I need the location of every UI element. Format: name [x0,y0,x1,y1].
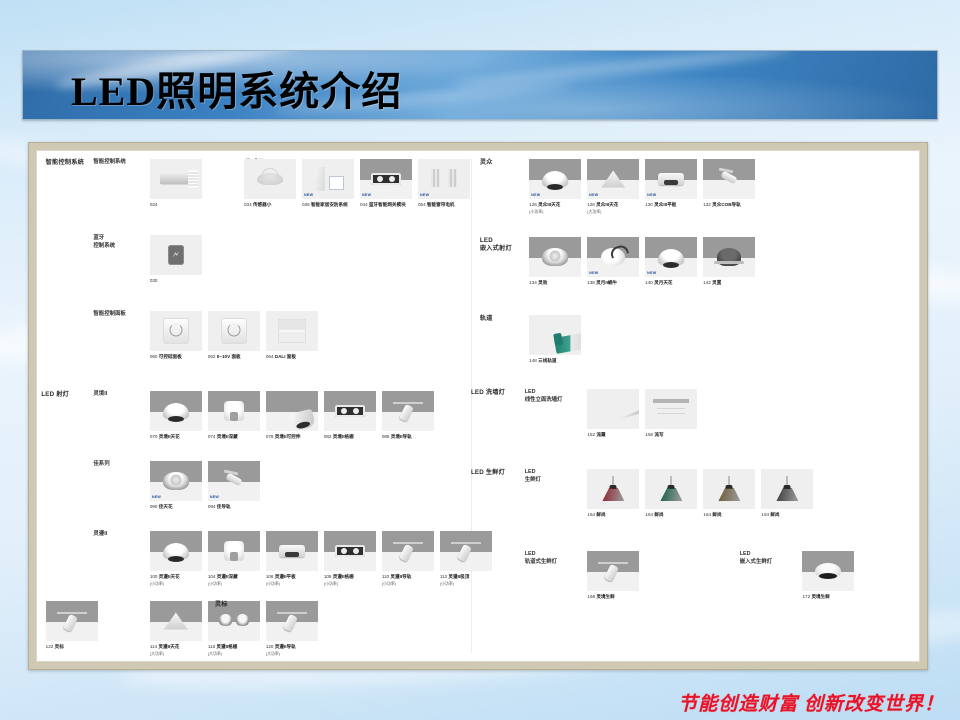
item-subnote: (小功率) [208,581,260,587]
item-row: 070 灵境II天花074 灵境II深藏078 灵境II可控伸082 灵境II格… [150,391,434,441]
item-name: 灵遵II吸顶 [448,574,469,579]
item-caption: 156 流写 [645,432,697,439]
item-subnote: (大功率) [208,651,260,657]
wallwash-product-graphic [653,399,689,419]
product-thumbnail: NEW [587,159,639,199]
catalog-item[interactable]: 110 灵遵II导轨(小功率) [382,531,434,586]
tracklight-product-graphic [277,610,307,632]
new-badge: NEW [362,193,371,197]
pendant-product-graphic [718,476,740,502]
product-thumbnail [324,531,376,571]
item-name: 灵遵II天花 [159,574,180,579]
cone-product-graphic [601,171,625,188]
item-name: 灵遵II天花 [158,644,179,649]
catalog-item[interactable]: NEW044 蓝牙智能网关模块 [360,159,412,209]
catalog-item[interactable]: 114 灵遵II天花(大功率) [150,601,202,656]
item-name: 灵境生鲜 [811,594,829,599]
product-thumbnail [208,311,260,351]
subgroup-title: LED生鲜灯 [525,469,541,484]
catalog-item[interactable]: 062 0~10V 面板 [208,311,260,361]
catalog-frame: 智能控制系统智能控制系统024 蓝牙控制系统030 智能控制面板060 可控硅面… [28,142,928,670]
item-code: 074 [208,434,216,439]
item-code: 106 [266,574,274,579]
item-code: 054 [418,202,426,207]
item-caption: 024 [150,202,202,209]
item-name: 灵遵II深藏 [217,574,238,579]
item-code: 030 [150,278,158,283]
item-name: 三线轨道 [538,358,556,363]
tracklight-product-graphic [57,610,87,632]
item-caption: 054 智能窗帘电机 [418,202,470,209]
item-name: 灵境II格栅 [333,434,354,439]
product-thumbnail: NEW [302,159,354,199]
product-thumbnail [645,389,697,429]
product-thumbnail: NEW [208,461,260,501]
deepset-product-graphic [224,401,244,421]
item-caption: 164 鲜尚 [645,512,697,519]
item-code: 172 [802,594,810,599]
product-thumbnail [529,315,581,355]
catalog-item[interactable]: 164 鲜尚 [703,469,755,519]
item-code: 164 [703,512,711,517]
product-thumbnail [150,601,202,641]
product-thumbnail [244,159,296,199]
item-name: 灵标 [55,644,64,649]
catalog-item[interactable]: 156 流写 [645,389,697,439]
item-caption: 030 [150,278,202,285]
new-badge: NEW [589,271,598,275]
catalog-item[interactable]: 152 流霞 [587,389,639,439]
item-name: 灵境生鲜 [596,594,614,599]
item-caption: 106 灵遵II平板(小功率) [266,574,318,586]
item-caption: 062 0~10V 面板 [208,354,260,361]
item-caption: 126 灵众III天花(小功率) [529,202,581,214]
reflector-product-graphic [542,248,568,266]
item-code: 062 [208,354,216,359]
catalog-item[interactable]: NEW126 灵众III天花(小功率) [529,159,581,214]
item-name: 灵月天花 [654,280,672,285]
item-name: 传感器小 [253,202,271,207]
item-caption: 128 灵众III天花(大功率) [587,202,639,214]
item-subnote: (小功率) [529,209,581,215]
item-name: 灵遵II导轨 [390,574,411,579]
new-badge: NEW [304,193,313,197]
product-thumbnail: NEW [645,237,697,277]
subgroup-title: 蓝牙控制系统 [93,235,115,250]
item-subnote: (小功率) [324,581,376,587]
item-subnote: (小功率) [382,581,434,587]
product-thumbnail [266,601,318,641]
catalog-item[interactable]: 142 灵置 [703,237,755,287]
new-badge: NEW [647,193,656,197]
item-code: 024 [150,202,158,207]
item-name: 灵众III平板 [654,202,676,207]
item-code: 168 [587,594,595,599]
item-code: 126 [529,202,537,207]
pendant-product-graphic [602,476,624,502]
item-name: 灵众III天花 [538,202,560,207]
downlight-product-graphic [542,171,568,187]
snail-product-graphic [601,248,625,266]
subgroup-title: 灵遵II [93,531,107,539]
item-subnote: (大功率) [150,651,202,657]
item-caption: 116 灵遵II格栅(大功率) [208,644,260,656]
section-title: 智能控制系统 [46,159,84,167]
item-code: 140 [645,280,653,285]
item-name: 灵众III天花 [596,202,618,207]
subgroup-title: LED线性立面洗墙灯 [525,389,563,404]
item-caption: 140 灵月天花 [645,280,697,287]
item-name: 灵月II蜗牛 [596,280,617,285]
product-thumbnail: NEW [150,461,202,501]
item-name: 灵遵II格栅 [216,644,237,649]
cobtrack-product-graphic [220,471,248,491]
new-badge: NEW [647,271,656,275]
item-row: 034 传感器小NEW036 智能家居安防系统NEW044 蓝牙智能网关模块NE… [244,159,470,209]
cone-product-graphic [164,613,188,630]
item-row: 122 灵标 [46,601,98,651]
catalog-item[interactable]: NEW140 灵月天花 [645,237,697,287]
item-row: NEW126 灵众III天花(小功率)NEW128 灵众III天花(大功率)NE… [529,159,755,214]
product-thumbnail: NEW [360,159,412,199]
item-caption: 164 鲜尚 [587,512,639,519]
item-caption: 074 灵境II深藏 [208,434,260,441]
section-title: LED嵌入式射灯 [480,237,512,254]
product-thumbnail [150,159,202,199]
item-code: 086 [382,434,390,439]
item-caption: 120 灵遵II导轨(大功率) [266,644,318,656]
item-name: 佳天花 [159,504,173,509]
product-thumbnail [587,389,639,429]
catalog-item[interactable]: 082 灵境II格栅 [324,391,376,441]
item-name: DALI 面板 [275,354,296,359]
catalog-item[interactable]: 148 三线轨道 [529,315,581,365]
product-thumbnail: NEW [529,159,581,199]
subgroup-title: 智能控制系统 [93,159,125,167]
catalog-item[interactable]: NEW094 佳导轨 [208,461,260,511]
item-code: 156 [645,432,653,437]
item-name: 灵众COB导轨 [712,202,741,207]
item-caption: 064 DALI 面板 [266,354,318,361]
product-thumbnail [645,469,697,509]
item-caption: 086 灵境II导轨 [382,434,434,441]
item-code: 132 [703,202,711,207]
item-caption: 036 智能家居安防系统 [302,202,354,209]
subgroup-title: LED嵌入式生鲜灯 [740,551,772,566]
freshdown-product-graphic [815,563,841,579]
item-caption: 142 灵置 [703,280,755,287]
downlight-product-graphic [163,543,189,559]
item-row: 164 鲜尚164 鲜尚164 鲜尚164 鲜尚 [587,469,813,519]
section-title: LED 射灯 [41,391,69,399]
item-row: 030 [150,235,202,285]
tracklight-product-graphic [393,400,423,422]
catalog-item[interactable]: 086 灵境II导轨 [382,391,434,441]
item-code: 120 [266,644,274,649]
item-caption: 152 流霞 [587,432,639,439]
flatpanel-product-graphic [658,173,684,185]
item-code: 164 [645,512,653,517]
rail-product-graphic [554,332,581,354]
item-caption: 108 灵遵II格栅(小功率) [324,574,376,586]
item-name: 灵置 [712,280,721,285]
panelknob-product-graphic [164,319,188,343]
item-code: 112 [440,574,447,579]
driverbox-product-graphic [160,174,192,185]
item-name: 流写 [654,432,663,437]
flatpanel-product-graphic [279,545,305,557]
item-caption: 114 灵遵II天花(大功率) [150,644,202,656]
item-name: 灵遵II导轨 [275,644,296,649]
item-name: 鲜尚 [770,512,779,517]
product-thumbnail [46,601,98,641]
catalog-item[interactable]: 168 灵境生鲜 [587,551,639,601]
section-title: 灵标 [215,601,228,609]
catalog-item[interactable]: 100 灵遵II天花(小功率) [150,531,202,586]
item-code: 114 [150,644,157,649]
item-caption: 164 鲜尚 [703,512,755,519]
product-thumbnail [587,469,639,509]
subgroup-title: LED轨道式生鲜灯 [525,551,557,566]
subgroup-title: 智能控制面板 [93,311,125,319]
product-thumbnail [529,237,581,277]
catalog-item[interactable]: 132 灵众COB导轨 [703,159,755,214]
item-subnote: (大功率) [587,209,639,215]
grille-product-graphic [335,545,365,557]
catalog-item[interactable]: 164 鲜尚 [645,469,697,519]
item-code: 070 [150,434,158,439]
item-name: 0~10V 面板 [217,354,241,359]
product-thumbnail [266,391,318,431]
panelknob-product-graphic [222,319,246,343]
item-code: 128 [587,202,595,207]
new-badge: NEW [152,495,161,499]
product-thumbnail [266,311,318,351]
item-caption: 034 传感器小 [244,202,296,209]
catalog-item[interactable]: 164 鲜尚 [587,469,639,519]
grille-product-graphic [335,405,365,417]
product-thumbnail [587,551,639,591]
item-name: 流霞 [596,432,605,437]
product-thumbnail [208,391,260,431]
item-code: 108 [324,574,332,579]
tracklight-product-graphic [393,540,423,562]
catalog-item[interactable]: 122 灵标 [46,601,98,651]
product-thumbnail [150,235,202,275]
product-thumbnail [150,391,202,431]
catalog-item[interactable]: 034 传感器小 [244,159,296,209]
item-code: 164 [761,512,769,517]
product-thumbnail [150,531,202,571]
catalog-item[interactable]: 024 [150,159,202,209]
product-thumbnail [324,391,376,431]
item-row: 114 灵遵II天花(大功率)116 灵遵II格栅(大功率)120 灵遵II导轨… [150,601,318,656]
item-name: 鲜尚 [712,512,721,517]
smarthome-product-graphic [313,167,343,191]
reflector-product-graphic [163,472,189,490]
item-code: 060 [150,354,158,359]
item-caption: 134 灵效 [529,280,581,287]
catalog-sheet: 智能控制系统智能控制系统024 蓝牙控制系统030 智能控制面板060 可控硅面… [36,150,920,662]
linear-product-graphic [613,407,639,420]
product-thumbnail [761,469,813,509]
pendant-product-graphic [660,476,682,502]
item-name: 灵境II深藏 [217,434,238,439]
catalog-item[interactable]: 060 可控硅面板 [150,311,202,361]
item-code: 104 [208,574,216,579]
item-caption: 100 灵遵II天花(小功率) [150,574,202,586]
item-name: 可控硅面板 [159,354,182,359]
item-code: 094 [208,504,216,509]
item-code: 164 [587,512,595,517]
product-thumbnail [802,551,854,591]
darkdown-product-graphic [717,248,741,266]
catalog-item[interactable]: 104 灵遵II深藏(小功率) [208,531,260,586]
footer-slogan: 节能创造财富 创新改变世界！ [678,689,944,716]
item-row: 172 灵境生鲜 [802,551,854,601]
item-row: 168 灵境生鲜 [587,551,639,601]
product-thumbnail: NEW [645,159,697,199]
btmodule-product-graphic [168,245,184,265]
item-row: 152 流霞156 流写 [587,389,697,439]
item-row: 148 三线轨道 [529,315,581,365]
item-caption: 164 鲜尚 [761,512,813,519]
tracklight-product-graphic [598,560,628,582]
item-caption: 078 灵境II可控伸 [266,434,318,441]
product-thumbnail [703,469,755,509]
item-code: 134 [529,280,537,285]
catalog-item[interactable]: 030 [150,235,202,285]
item-caption: 132 灵众COB导轨 [703,202,755,209]
item-name: 智能窗帘电机 [427,202,455,207]
banner-streak [453,50,792,92]
item-caption: 104 灵遵II深藏(小功率) [208,574,260,586]
catalog-item[interactable]: 074 灵境II深藏 [208,391,260,441]
item-subnote: (大功率) [266,651,318,657]
item-code: 044 [360,202,368,207]
product-thumbnail [150,311,202,351]
product-thumbnail [208,531,260,571]
item-code: 148 [529,358,537,363]
subgroup-title: 佳系列 [93,461,109,469]
catalog-right-column: 灵众NEW126 灵众III天花(小功率)NEW128 灵众III天花(大功率)… [471,151,919,661]
item-code: 082 [324,434,332,439]
item-caption: 172 灵境生鲜 [802,594,854,601]
section-title: LED 生鲜灯 [471,469,505,477]
item-caption: 090 佳天花 [150,504,202,511]
curtain-product-graphic [429,169,459,189]
item-caption: 082 灵境II格栅 [324,434,376,441]
catalog-item[interactable]: NEW054 智能窗帘电机 [418,159,470,209]
product-thumbnail [382,391,434,431]
new-badge: NEW [589,193,598,197]
item-subnote: (小功率) [150,581,202,587]
item-row: 060 可控硅面板062 0~10V 面板064 DALI 面板 [150,311,318,361]
item-caption: 138 灵月II蜗牛 [587,280,639,287]
catalog-item[interactable]: 134 灵效 [529,237,581,287]
item-code: 130 [645,202,653,207]
deepset-product-graphic [224,541,244,561]
item-name: 鲜尚 [654,512,663,517]
item-code: 122 [46,644,54,649]
item-code: 152 [587,432,595,437]
catalog-item[interactable]: 078 灵境II可控伸 [266,391,318,441]
item-code: 078 [266,434,274,439]
item-name: 智能家居安防系统 [311,202,348,207]
item-code: 116 [208,644,215,649]
catalog-item[interactable]: 120 灵遵II导轨(大功率) [266,601,318,656]
product-thumbnail [703,159,755,199]
item-caption: 110 灵遵II导轨(小功率) [382,574,434,586]
subgroup-title: 灵境II [93,391,107,399]
product-thumbnail [703,237,755,277]
item-name: 灵境II天花 [159,434,180,439]
catalog-item[interactable]: NEW130 灵众III平板 [645,159,697,214]
section-title: 灵众 [480,159,493,167]
catalog-item[interactable]: NEW036 智能家居安防系统 [302,159,354,209]
catalog-item[interactable]: NEW128 灵众III天花(大功率) [587,159,639,214]
new-badge: NEW [531,193,540,197]
catalog-item[interactable]: 172 灵境生鲜 [802,551,854,601]
product-thumbnail: NEW [418,159,470,199]
item-code: 036 [302,202,310,207]
item-code: 142 [703,280,711,285]
item-caption: 060 可控硅面板 [150,354,202,361]
item-caption: 094 佳导轨 [208,504,260,511]
sensor-product-graphic [257,173,283,185]
catalog-item[interactable]: 064 DALI 面板 [266,311,318,361]
catalog-item[interactable]: 164 鲜尚 [761,469,813,519]
item-caption: 168 灵境生鲜 [587,594,639,601]
product-thumbnail: NEW [587,237,639,277]
catalog-left-column: 智能控制系统智能控制系统024 蓝牙控制系统030 智能控制面板060 可控硅面… [37,151,471,661]
item-code: 090 [150,504,158,509]
item-name: 灵遵II格栅 [333,574,354,579]
product-thumbnail [266,531,318,571]
item-code: 100 [150,574,158,579]
item-name: 灵效 [538,280,547,285]
new-badge: NEW [420,193,429,197]
item-name: 佳导轨 [217,504,231,509]
item-name: 灵遵II平板 [275,574,296,579]
catalog-item[interactable]: 070 灵境II天花 [150,391,202,441]
new-badge: NEW [210,495,219,499]
section-title: LED 洗墙灯 [471,389,505,397]
item-name: 蓝牙智能网关模块 [369,202,406,207]
item-name: 灵境II可控伸 [275,434,301,439]
item-name: 灵境II导轨 [391,434,412,439]
item-caption: 070 灵境II天花 [150,434,202,441]
pendant-product-graphic [776,476,798,502]
darkbox-product-graphic [371,173,401,185]
item-caption: 044 蓝牙智能网关模块 [360,202,412,209]
section-title: 轨道 [480,315,493,323]
title-banner: LED照明系统介绍 [22,50,938,120]
catalog-item[interactable]: 108 灵遵II格栅(小功率) [324,531,376,586]
item-row: 134 灵效NEW138 灵月II蜗牛NEW140 灵月天花142 灵置 [529,237,755,287]
item-code: 034 [244,202,252,207]
downlight-product-graphic [658,249,684,265]
page-title: LED照明系统介绍 [71,59,402,117]
product-thumbnail [382,531,434,571]
item-row: 100 灵遵II天花(小功率)104 灵遵II深藏(小功率)106 灵遵II平板… [150,531,492,586]
downlight-product-graphic [163,403,189,419]
item-code: 138 [587,280,595,285]
catalog-item[interactable]: NEW090 佳天花 [150,461,202,511]
catalog-item[interactable]: 106 灵遵II平板(小功率) [266,531,318,586]
catalog-item[interactable]: NEW138 灵月II蜗牛 [587,237,639,287]
item-row: NEW090 佳天花NEW094 佳导轨 [150,461,260,511]
